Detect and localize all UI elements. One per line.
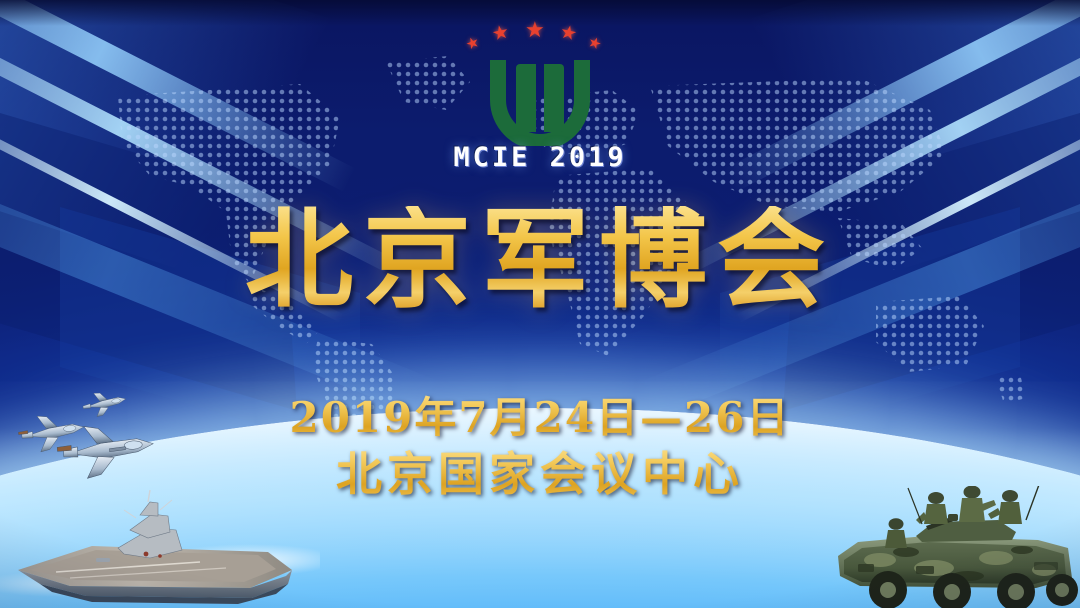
- star-icon: ★: [464, 34, 482, 53]
- logo-wordmark: MCIE 2019: [450, 142, 630, 173]
- star-icon: ★: [525, 19, 545, 41]
- fighter-jets-image: [6, 388, 196, 484]
- aircraft-carrier-image: [0, 488, 320, 608]
- poster-canvas: ★ ★ ★ ★ ★ MCIE 2019 北京军博会 2019年7月24日—26日…: [0, 0, 1080, 608]
- armored-personnel-carrier-image: [830, 486, 1080, 608]
- page-title: 北京军博会: [0, 206, 1080, 314]
- star-icon: ★: [586, 34, 604, 53]
- star-icon: ★: [558, 22, 579, 44]
- star-icon: ★: [490, 22, 511, 44]
- mcie-green-emblem-icon: [480, 50, 600, 146]
- event-logo: ★ ★ ★ ★ ★ MCIE 2019: [450, 18, 630, 173]
- five-stars-arc: ★ ★ ★ ★ ★: [450, 18, 630, 54]
